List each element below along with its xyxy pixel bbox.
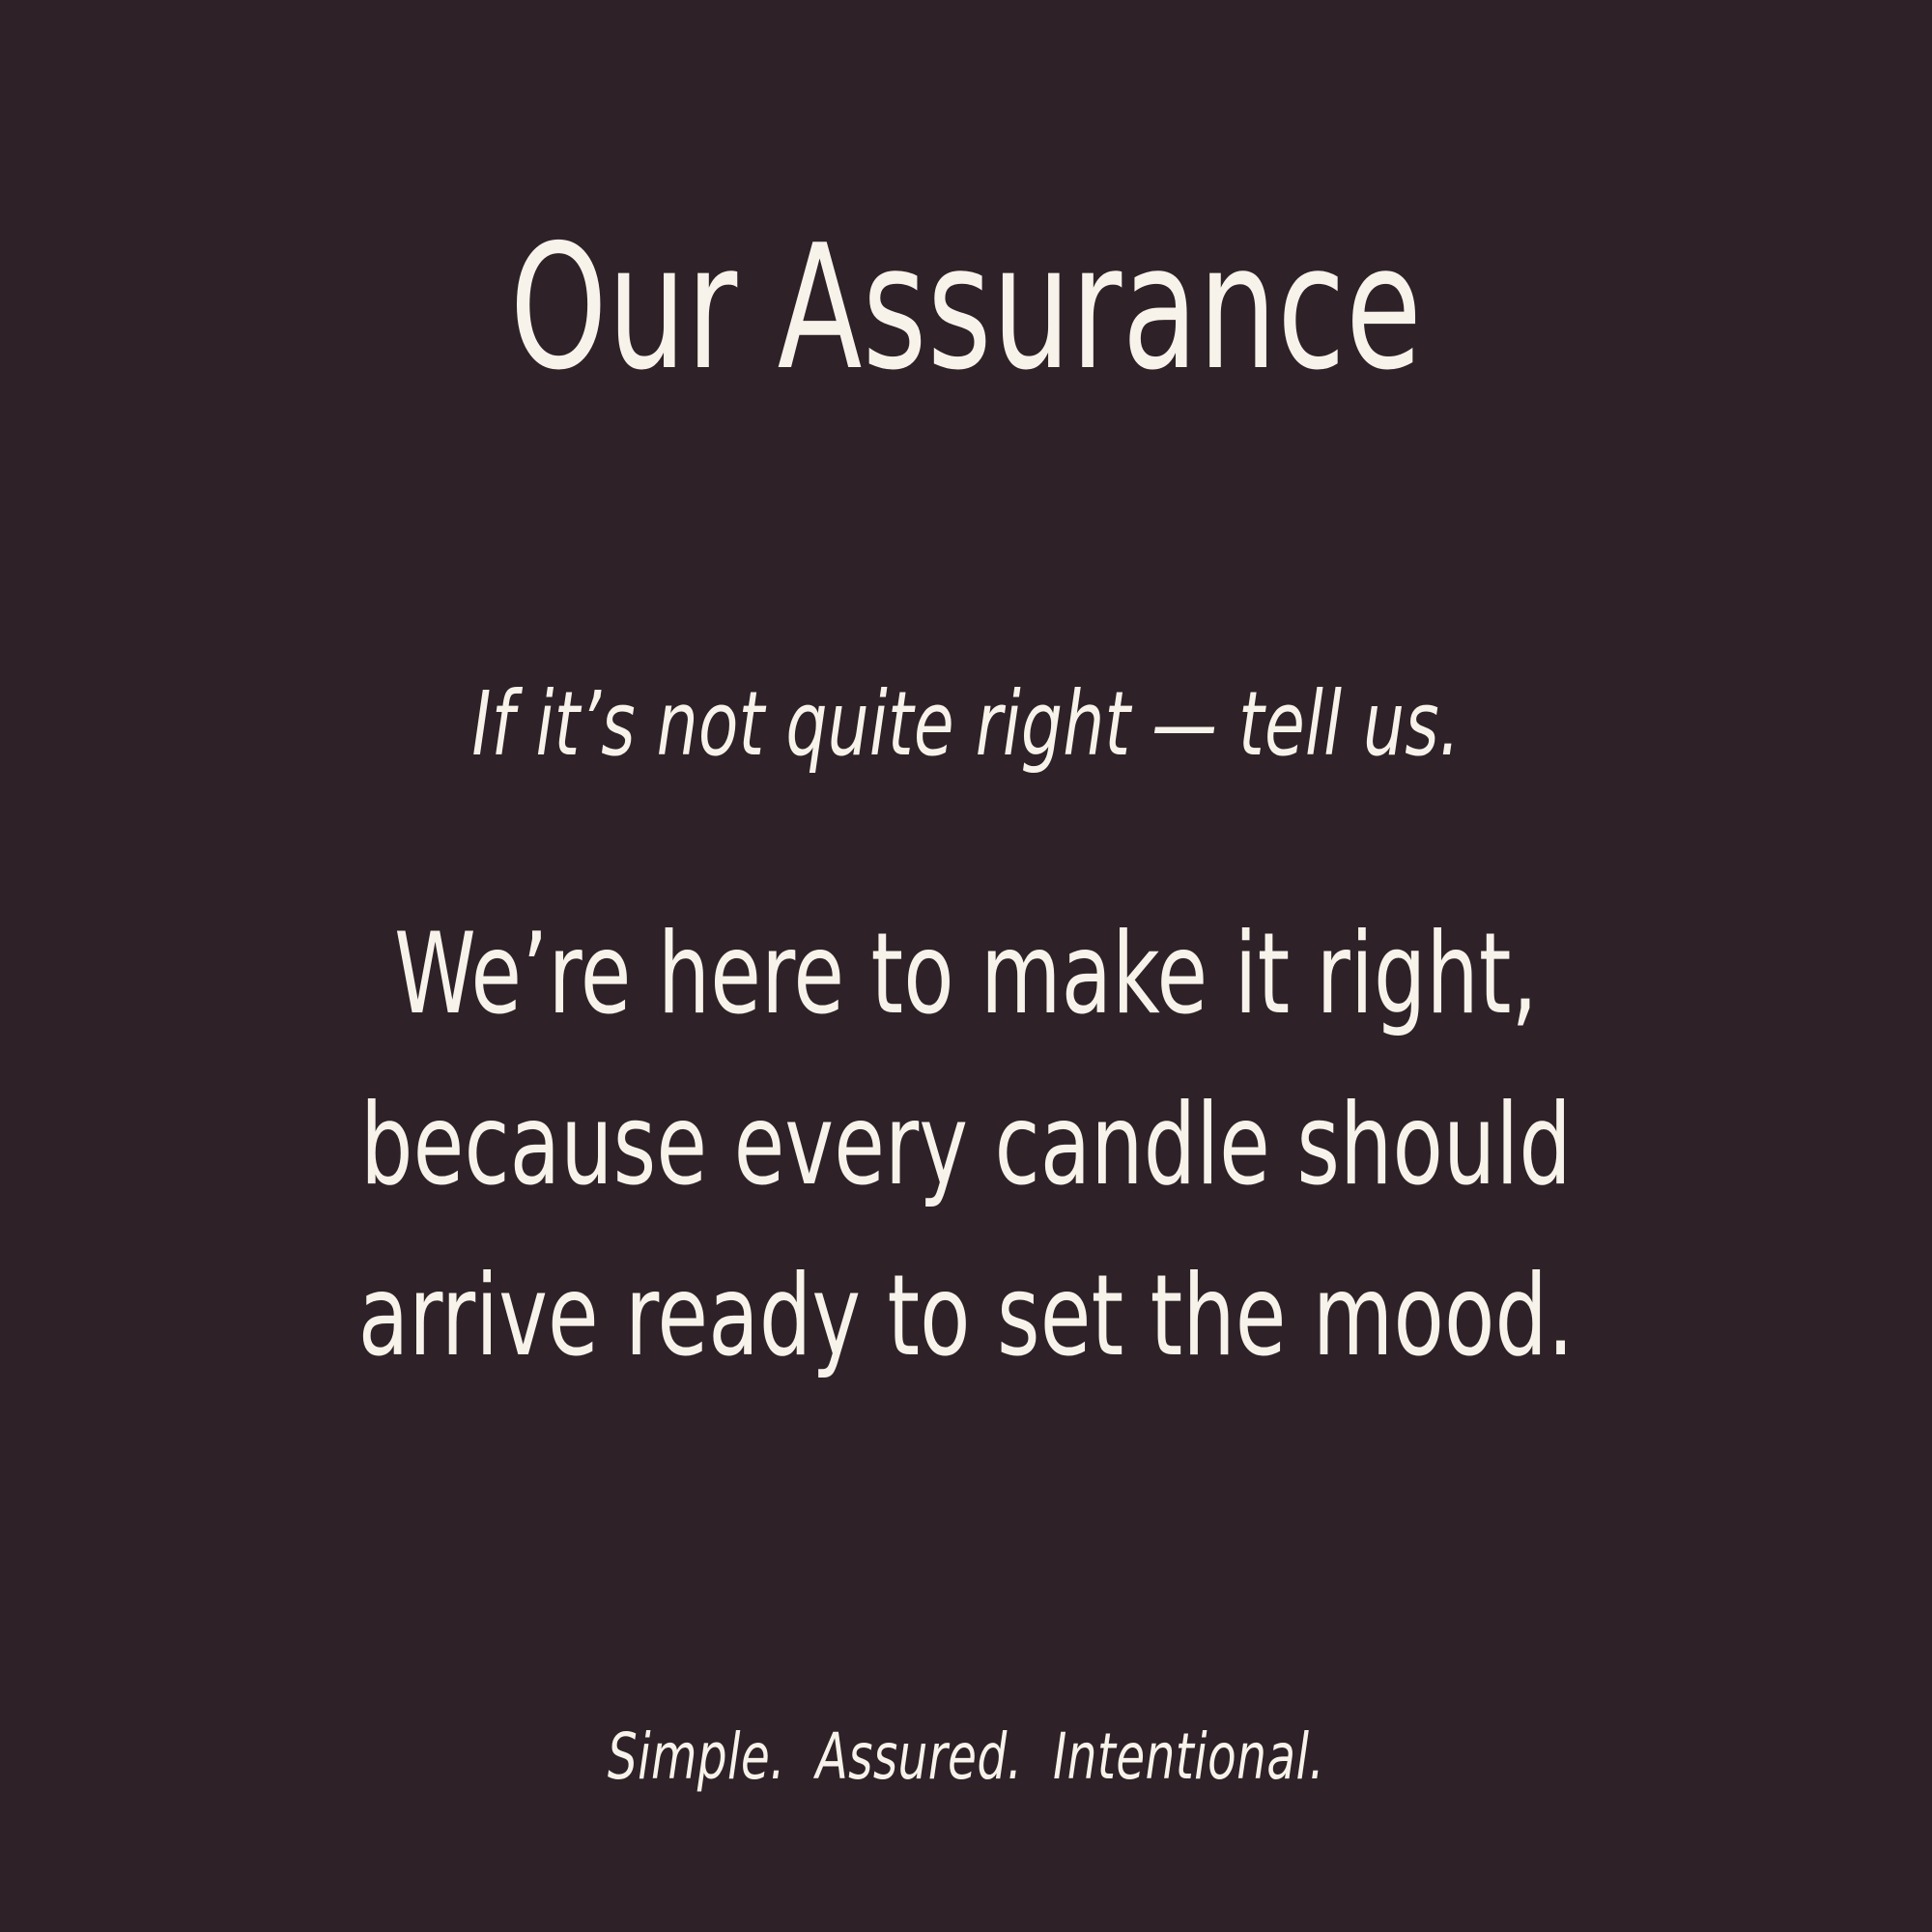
poster-body: We’re here to make it right, because eve… xyxy=(174,889,1758,1402)
poster-subtitle: If it’s not quite right — tell us. xyxy=(174,667,1758,782)
assurance-poster: Our Assurance If it’s not quite right — … xyxy=(0,0,1932,1932)
body-line-2: because every candle should xyxy=(174,1060,1758,1231)
poster-tagline: Simple. Assured. Intentional. xyxy=(174,1716,1758,1799)
page-title: Our Assurance xyxy=(193,207,1739,410)
body-line-1: We’re here to make it right, xyxy=(174,889,1758,1060)
body-line-3: arrive ready to set the mood. xyxy=(174,1231,1758,1402)
